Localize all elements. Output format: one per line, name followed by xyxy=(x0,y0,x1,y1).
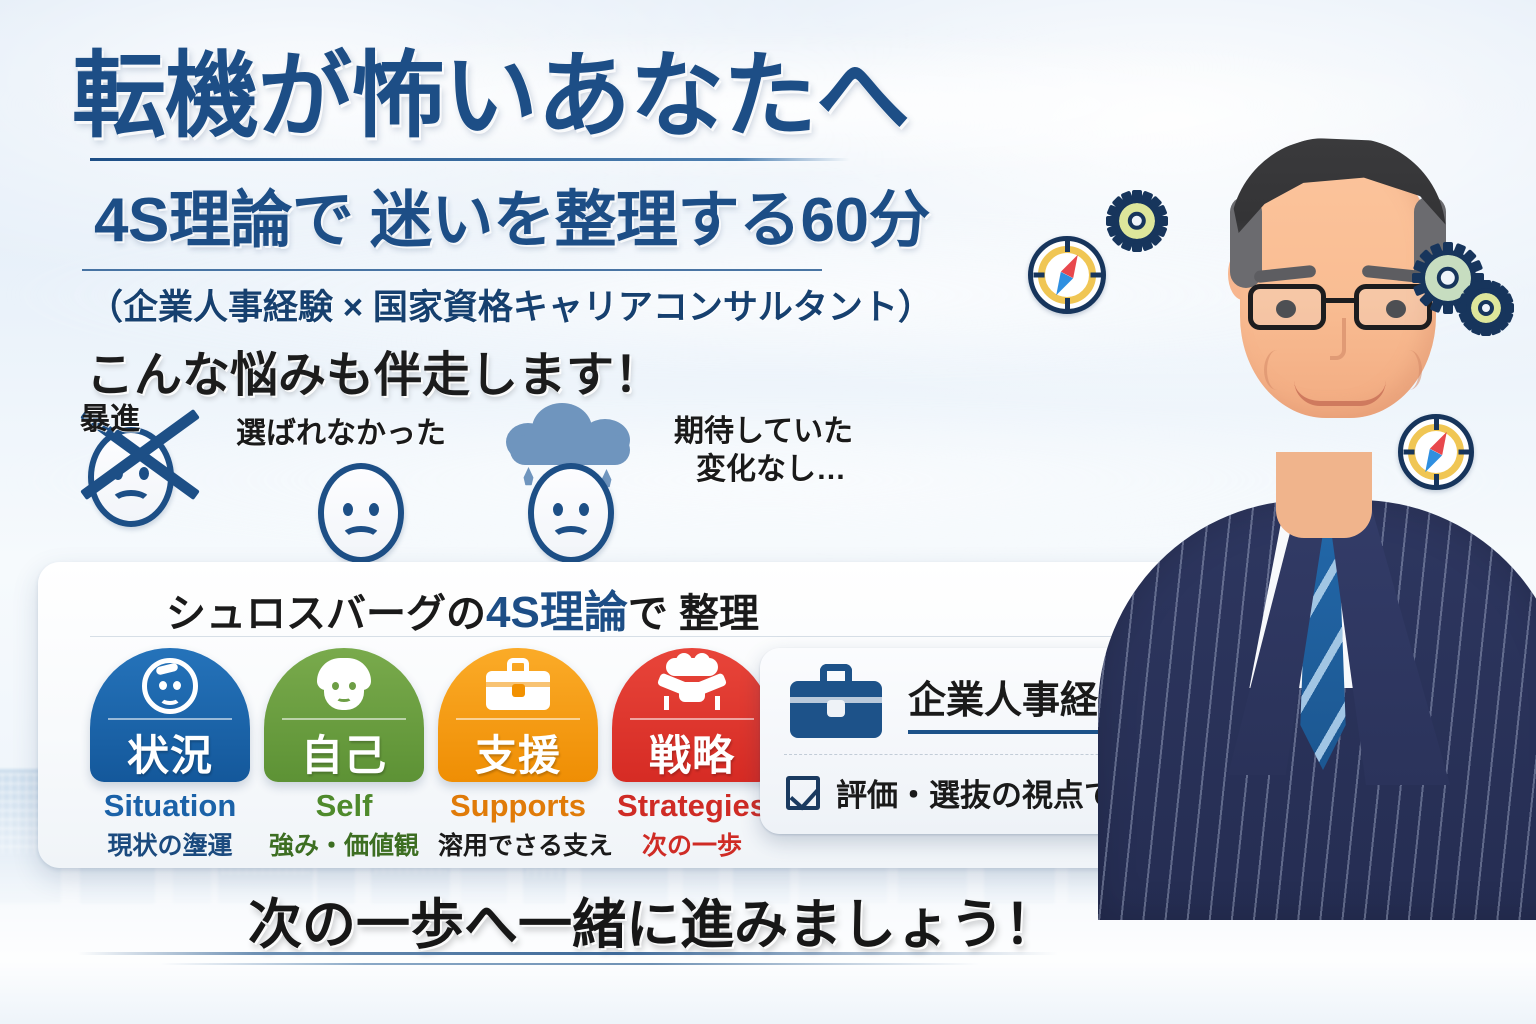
panel-title-prefix: シュロスバーグの xyxy=(166,592,486,636)
card-description: 現状の塰運 xyxy=(90,826,250,862)
worries-row: 暴進 選ばれなかった 期待していた xyxy=(60,405,960,560)
cheek-line-left xyxy=(1264,350,1290,390)
nose xyxy=(1330,318,1346,360)
briefcase-icon xyxy=(790,664,882,738)
card-label-en: Strategies xyxy=(612,788,772,824)
headline-divider-bottom xyxy=(82,269,822,271)
person-face-icon xyxy=(264,658,424,716)
worry-label-3-line1: 期待していた xyxy=(674,413,853,451)
briefcase-icon xyxy=(438,658,598,716)
four-s-card-self[interactable]: 自己 Self 強み・価値観 xyxy=(264,648,424,862)
compass-icon xyxy=(1028,236,1106,314)
card-label-jp: 状況 xyxy=(90,722,250,782)
headline-block: 転機が怖いあなたへ 4S理論で 迷いを整理する60分 （企業人事経験 × 国家資… xyxy=(72,48,892,330)
panel-title-accent: 4S理論 xyxy=(486,588,628,637)
footer-divider-1 xyxy=(78,952,1058,955)
worry-label-2: 選ばれなかった xyxy=(236,415,446,453)
baby-face-icon xyxy=(90,658,250,716)
footer-call-to-action: 次の一歩へ一緒に進みましょう！ xyxy=(248,880,1058,959)
page-title: 転機が怖いあなたへ xyxy=(72,48,892,144)
checkbox-checked-icon xyxy=(786,776,820,810)
worry-label-3: 期待していた 変化なし… xyxy=(674,413,853,488)
card-description: 溶用でさる支え xyxy=(438,826,598,862)
worry-item-1: 暴進 xyxy=(88,427,174,527)
panel-title: シュロスバーグの4S理論で 整理 xyxy=(166,576,759,640)
card-label-jp: 自己 xyxy=(264,722,424,782)
sad-face-icon xyxy=(318,463,404,563)
callout-header: 企業人事経験 xyxy=(790,664,1136,738)
headline-divider-top xyxy=(90,158,850,161)
card-label-en: Self xyxy=(264,788,424,824)
card-label-en: Situation xyxy=(90,788,250,824)
panel-title-suffix: で 整理 xyxy=(628,592,759,636)
four-s-card-situation[interactable]: 状況 Situation 現状の塰運 xyxy=(90,648,250,862)
worry-label-1: 暴進 xyxy=(80,401,140,439)
footer-divider-2 xyxy=(160,963,980,965)
gear-icon xyxy=(1114,198,1160,244)
worry-item-3: 期待していた 変化なし… xyxy=(528,463,614,563)
card-description: 次の一歩 xyxy=(612,826,772,862)
mouth xyxy=(1294,380,1386,406)
headline-subtitle: 4S理論で 迷いを整理する60分 xyxy=(94,169,892,259)
four-s-card-supports[interactable]: 支援 Supports 溶用でさる支え xyxy=(438,648,598,862)
compass-icon xyxy=(1398,414,1474,490)
four-s-card-strategies[interactable]: 戦略 Strategies 次の一歩 xyxy=(612,648,772,862)
card-description: 強み・価値観 xyxy=(264,826,424,862)
neck xyxy=(1276,452,1372,538)
worry-item-2: 選ばれなかった xyxy=(318,463,404,563)
gear-icon xyxy=(1466,288,1506,328)
businessman-portrait-illustration xyxy=(1108,0,1536,1024)
headline-credentials: （企業人事経験 × 国家資格キャリアコンサルタント） xyxy=(88,279,892,330)
poster-canvas: 転機が怖いあなたへ 4S理論で 迷いを整理する60分 （企業人事経験 × 国家資… xyxy=(0,0,1536,1024)
card-label-jp: 戦略 xyxy=(612,722,772,782)
card-label-jp: 支援 xyxy=(438,722,598,782)
worry-label-3-line2: 変化なし… xyxy=(674,451,853,489)
handshake-icon xyxy=(612,658,772,716)
panel-divider xyxy=(90,636,1158,637)
cheek-line-right xyxy=(1396,350,1422,390)
card-label-en: Supports xyxy=(438,788,598,824)
sad-face-icon xyxy=(528,463,614,563)
four-s-card-list: 状況 Situation 現状の塰運 自己 Self 強み・価値観 xyxy=(90,648,790,862)
